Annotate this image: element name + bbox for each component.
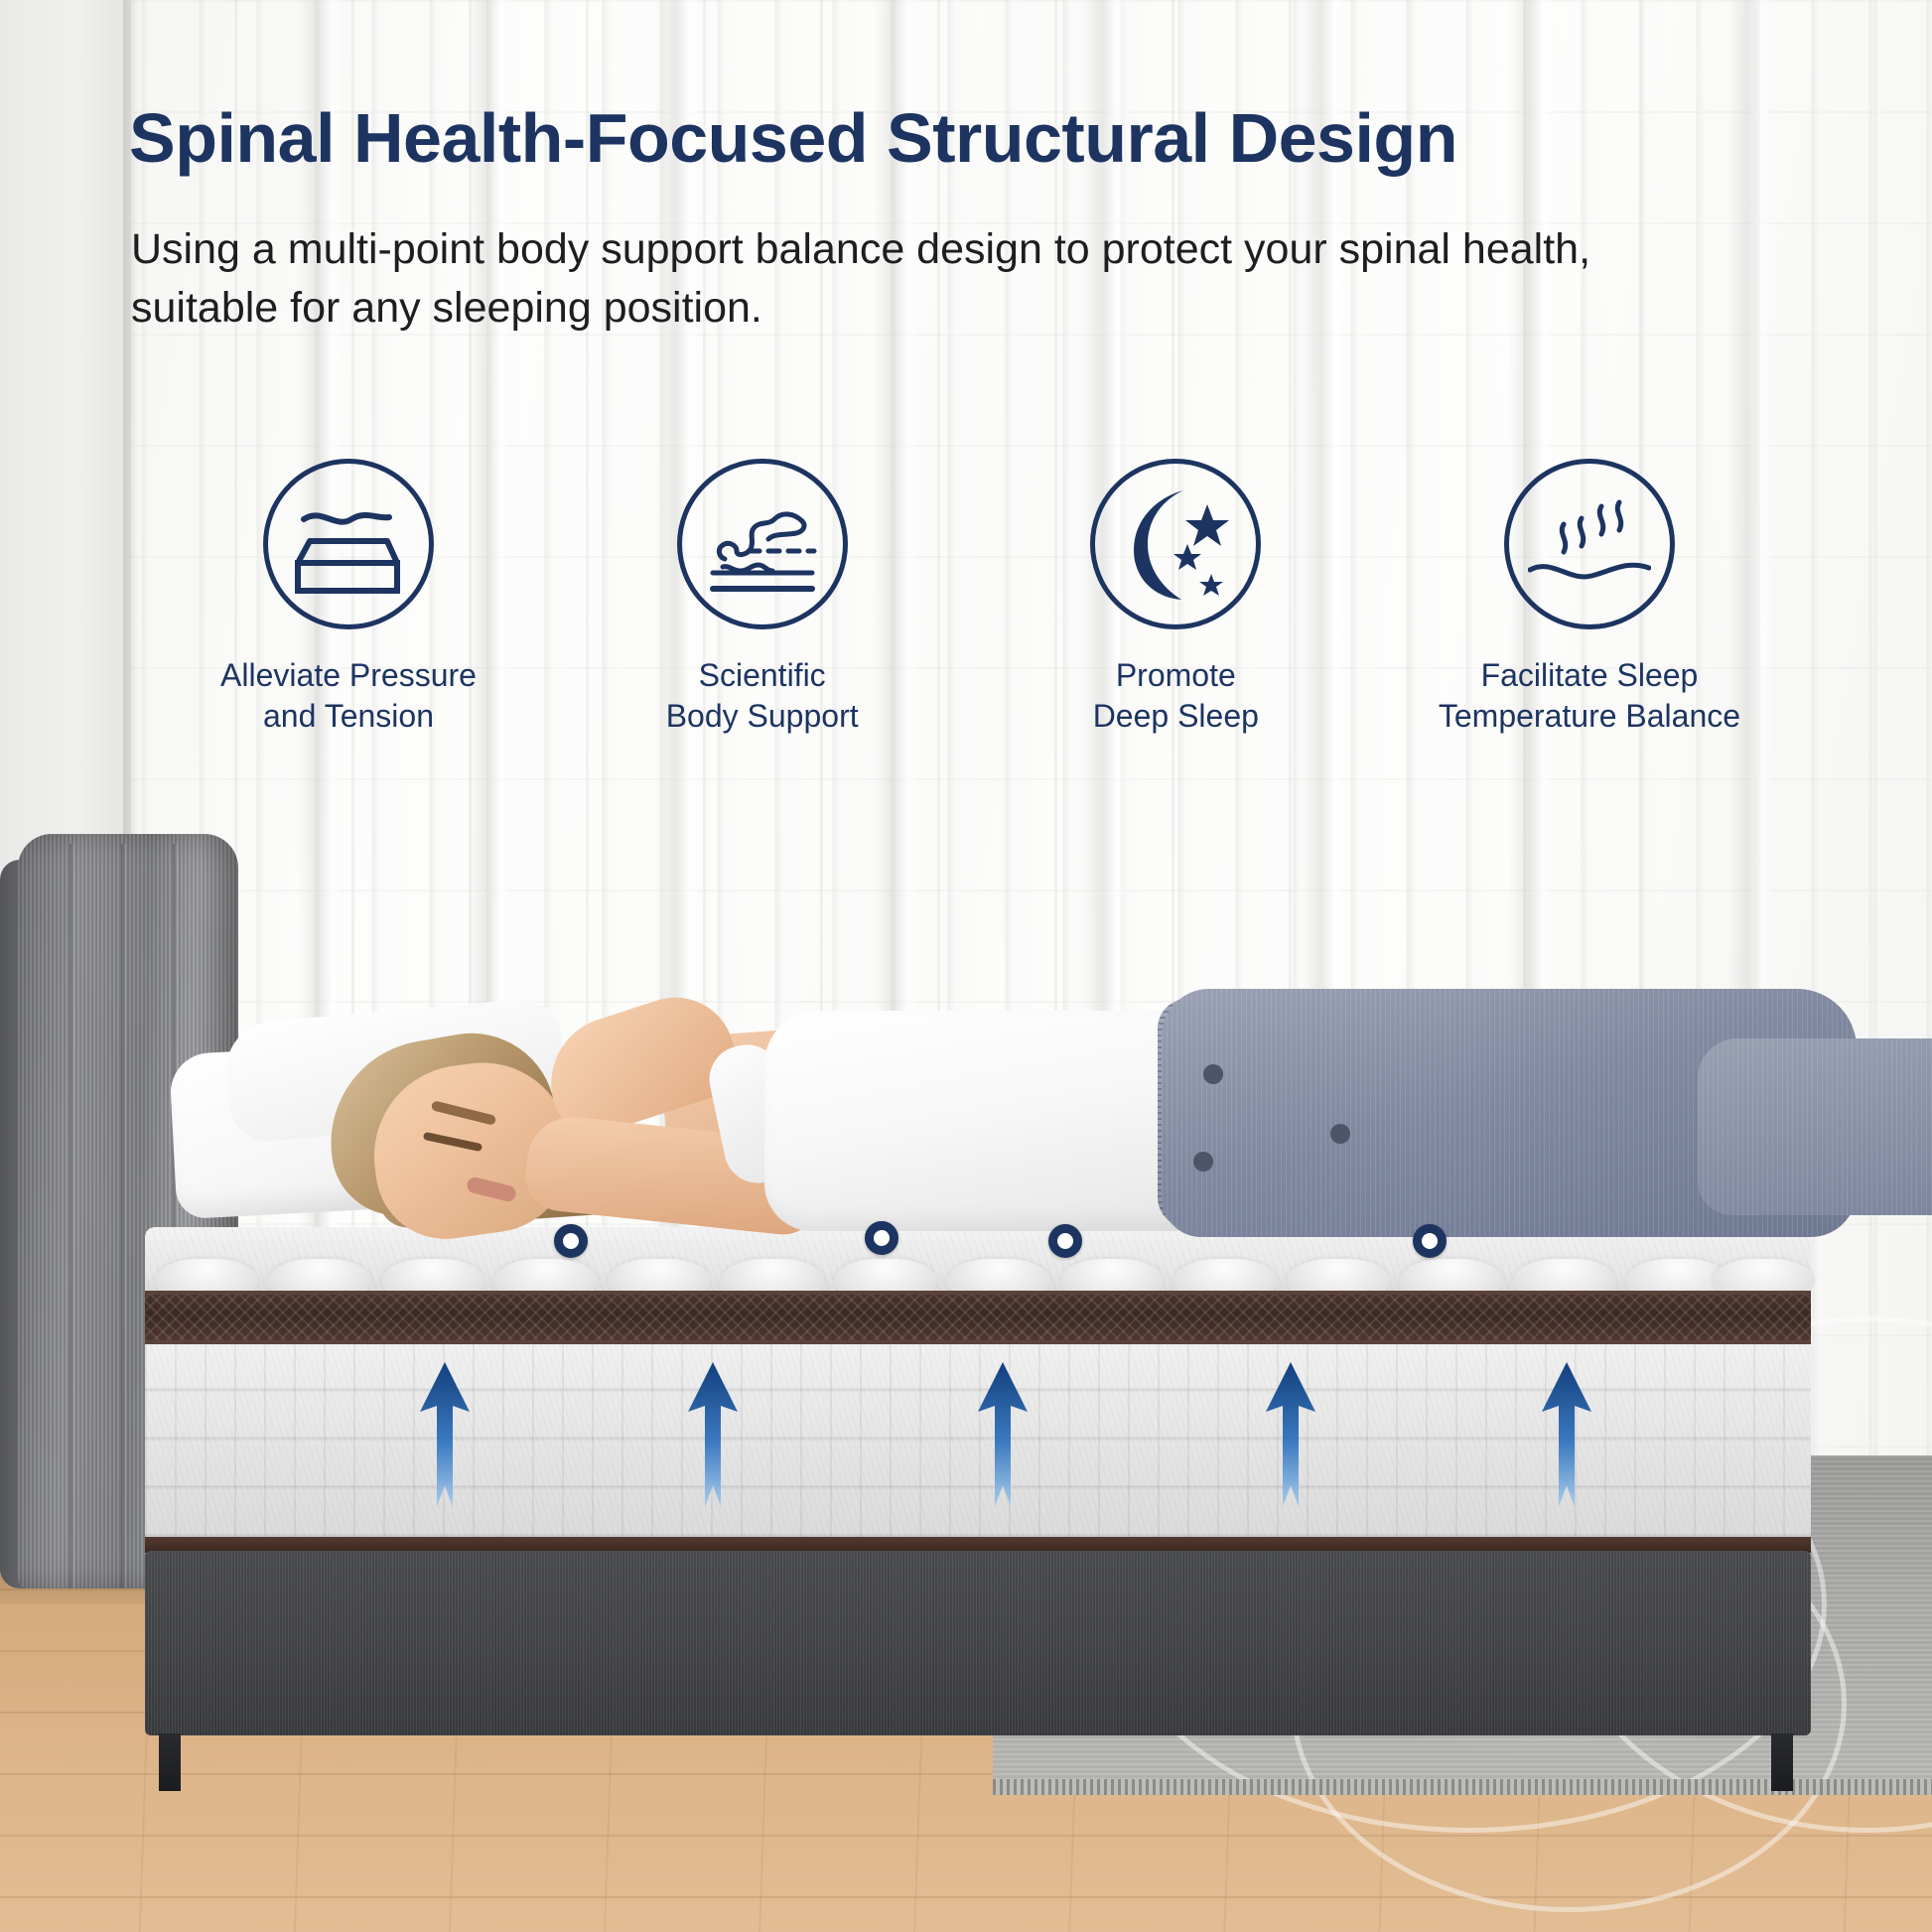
hip-leg-support-point[interactable] (1413, 1224, 1447, 1258)
lift-arrow-5 (1534, 1362, 1599, 1507)
waist-support-point[interactable] (1048, 1224, 1082, 1258)
bed-leg-right (1771, 1733, 1793, 1791)
lift-arrow-4 (1258, 1362, 1323, 1507)
lift-arrow-2 (680, 1362, 746, 1507)
bed-base (145, 1551, 1811, 1735)
product-feature-image: Spinal Health-Focused Structural Design … (0, 0, 1932, 1932)
lift-arrow-1 (412, 1362, 478, 1507)
shoulder-support-point[interactable] (865, 1221, 898, 1255)
bed-leg-left (159, 1733, 181, 1791)
white-tank-top (764, 1011, 1201, 1231)
head-neck-support-point[interactable] (554, 1224, 588, 1258)
lift-arrow-3 (970, 1362, 1035, 1507)
pajama-button-bottom (1193, 1152, 1213, 1172)
pajama-button-top (1203, 1064, 1223, 1084)
mattress-mesh-border (145, 1291, 1811, 1344)
sleeping-model (149, 953, 1698, 1251)
pajama-button-mid (1330, 1124, 1350, 1144)
pajama-pants-lower-leg (1698, 1038, 1932, 1215)
